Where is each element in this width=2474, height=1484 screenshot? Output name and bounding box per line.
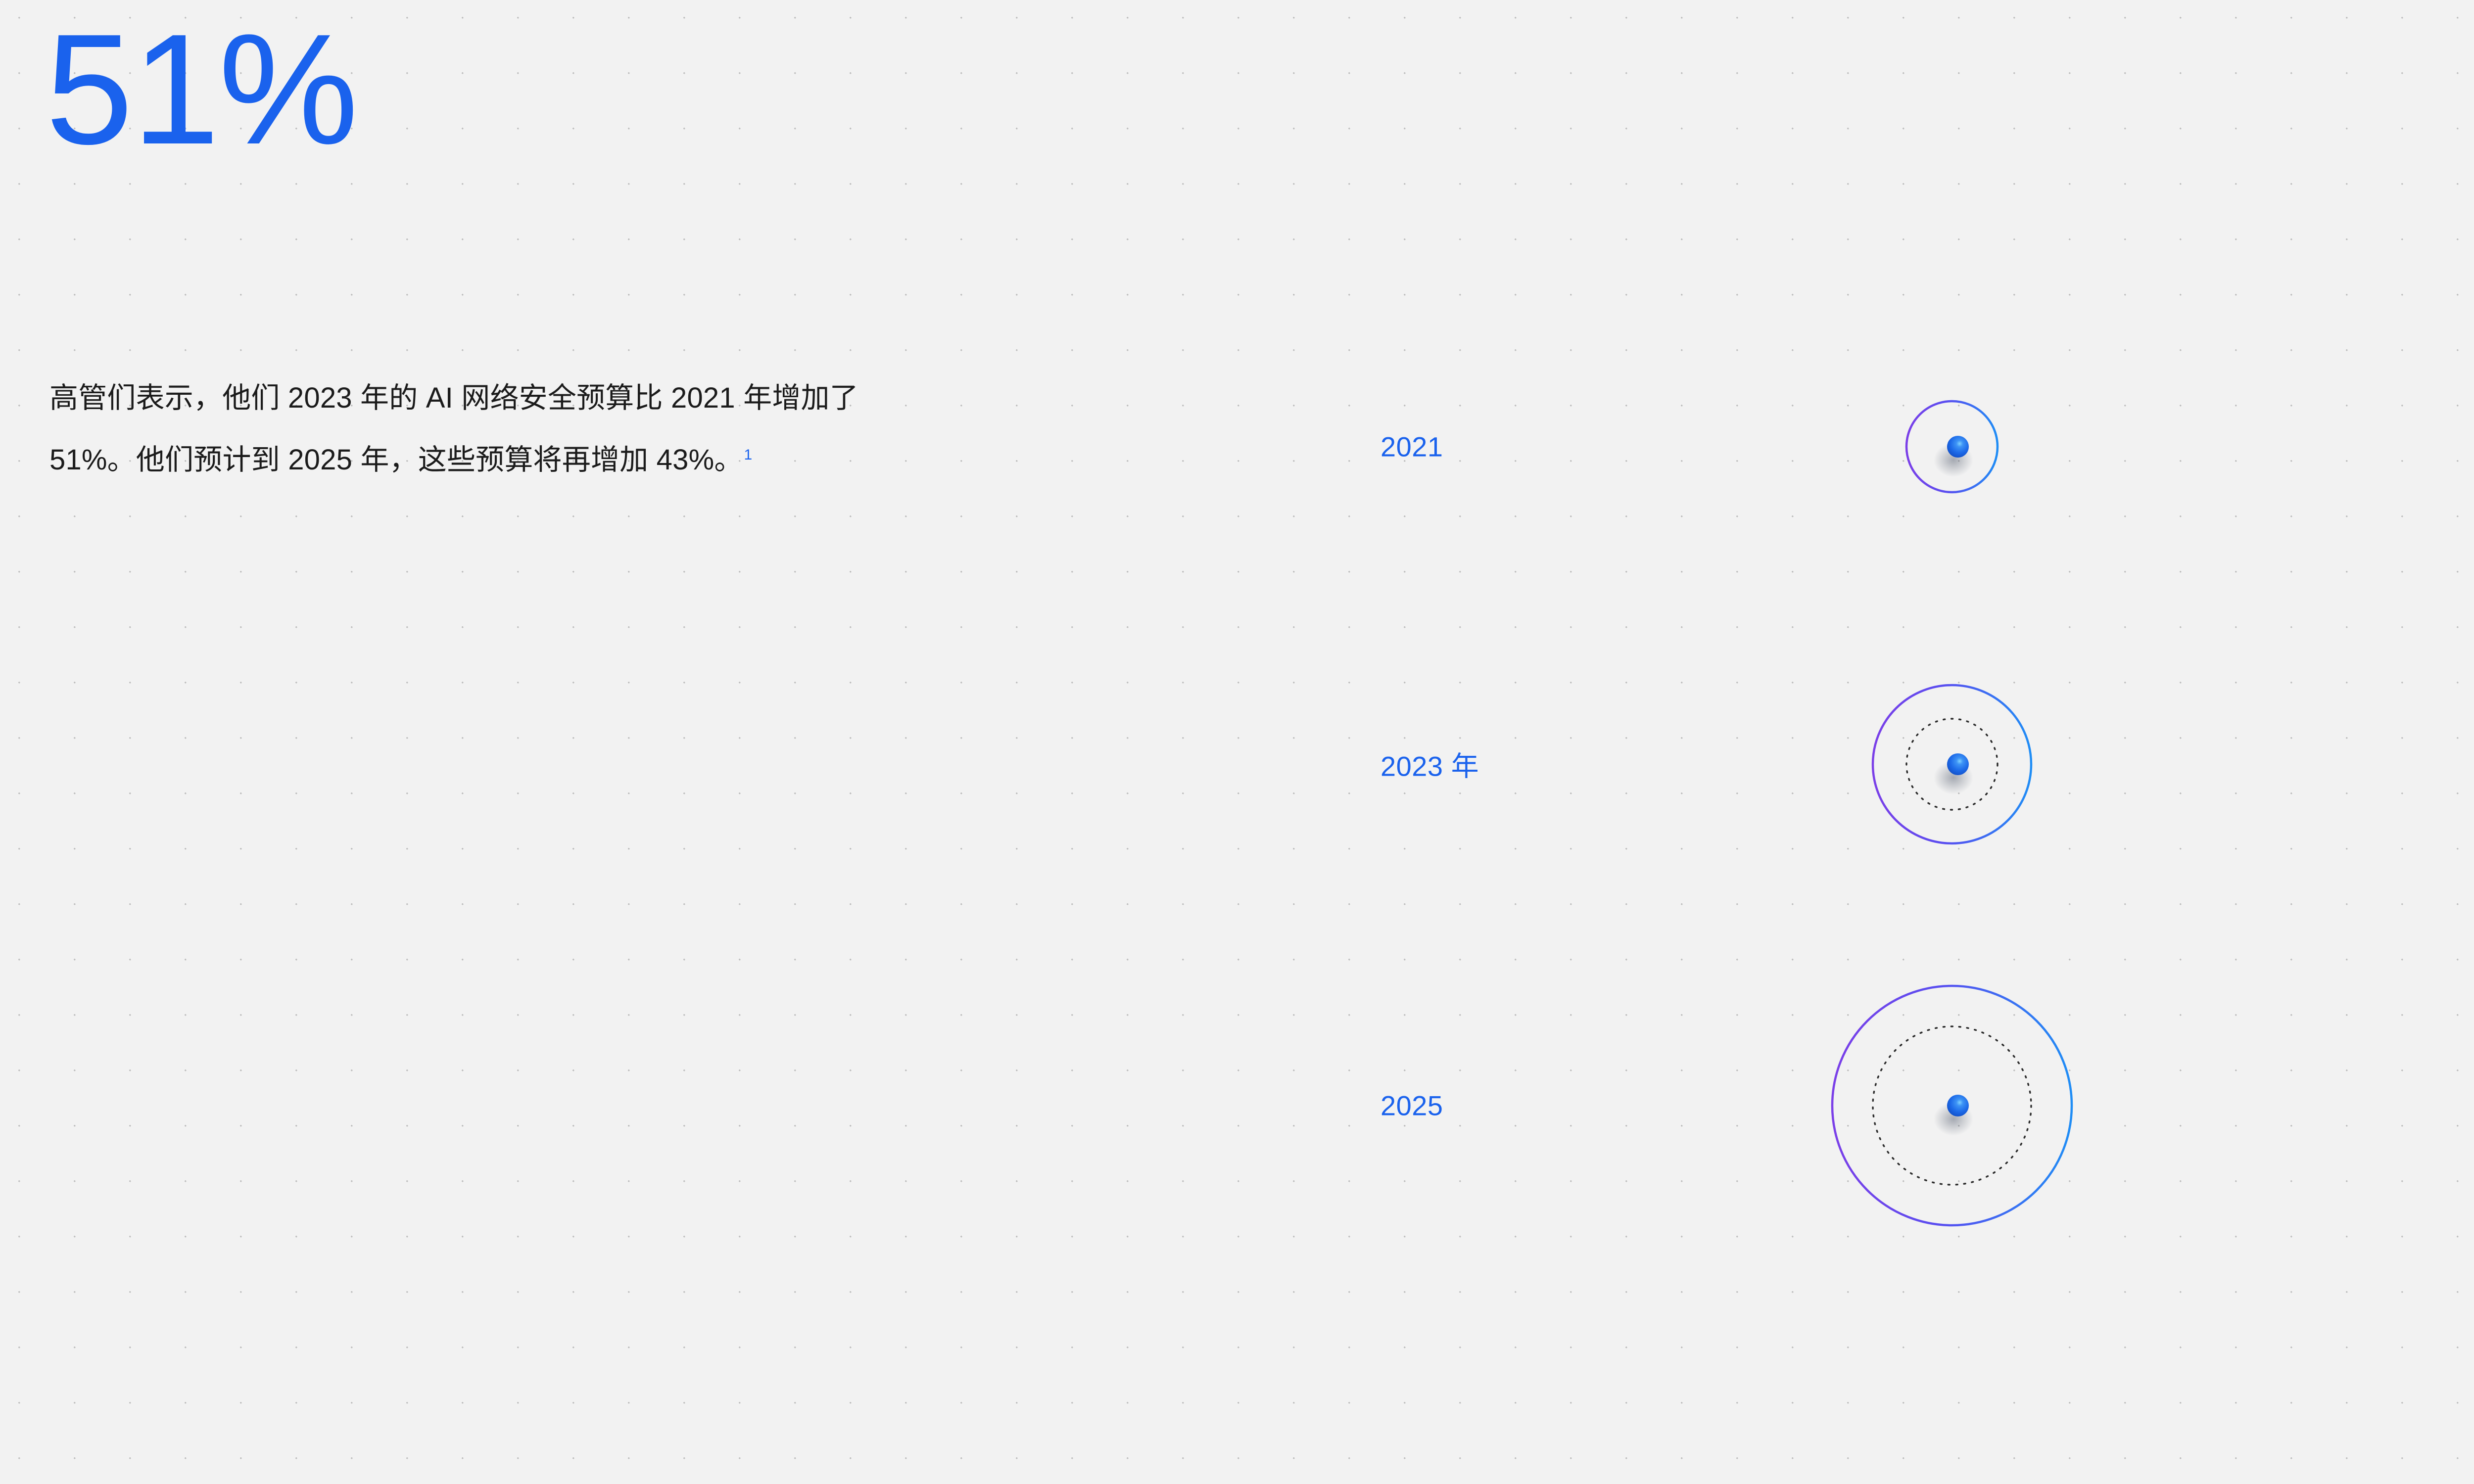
- headline-stat: 51%: [46, 11, 357, 168]
- outer-ring-2023: [1873, 685, 2031, 843]
- sphere-shadow-2025: [1934, 1102, 1973, 1136]
- footnote-reference[interactable]: 1: [744, 447, 753, 463]
- outer-ring-2025: [1832, 986, 2072, 1225]
- outer-ring-2021: [1906, 401, 1998, 492]
- sphere-2021: [1947, 436, 1969, 458]
- budget-bubble-chart: [0, 0, 2474, 1484]
- bubble-group-2023[interactable]: [1529, 685, 2031, 843]
- footer-bar: 上一章 下一章 8: [0, 1415, 2474, 1484]
- inner-dotted-ring-2025: [1873, 1026, 2031, 1185]
- bubble-group-2025[interactable]: [1514, 986, 2072, 1225]
- inner-dotted-ring-2023: [1906, 719, 1998, 810]
- bubble-group-2021[interactable]: [1479, 401, 1998, 492]
- bubble-label-2021[interactable]: 2021: [1380, 431, 1443, 463]
- bubble-label-2025[interactable]: 2025: [1380, 1090, 1443, 1122]
- sphere-2025: [1947, 1095, 1969, 1116]
- slide-canvas: 51% 高管们表示，他们 2023 年的 AI 网络安全预算比 2021 年增加…: [0, 0, 2474, 1484]
- body-paragraph-text: 高管们表示，他们 2023 年的 AI 网络安全预算比 2021 年增加了 51…: [49, 382, 858, 476]
- body-paragraph: 高管们表示，他们 2023 年的 AI 网络安全预算比 2021 年增加了 51…: [49, 367, 861, 491]
- sphere-2023: [1947, 753, 1969, 775]
- sphere-shadow-2021: [1934, 443, 1973, 477]
- bubble-label-2023[interactable]: 2023 年: [1380, 744, 1479, 785]
- sphere-shadow-2023: [1934, 761, 1973, 794]
